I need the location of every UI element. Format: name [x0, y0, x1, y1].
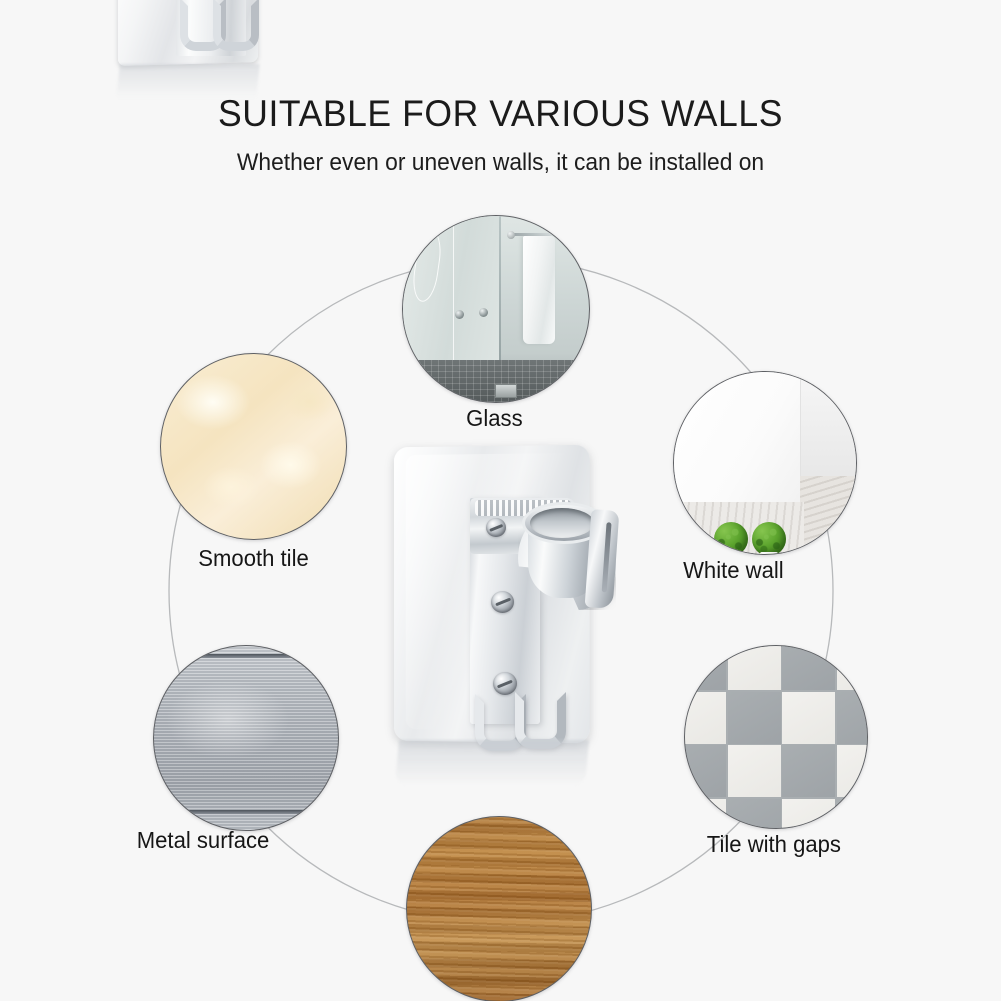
- glass-swatch: [402, 215, 590, 403]
- tile-cell: [684, 799, 726, 830]
- tile-cell: [837, 745, 869, 797]
- white-wall-swatch: [673, 371, 857, 555]
- infographic-page: SUITABLE FOR VARIOUS WALLS Whether even …: [0, 0, 1001, 1001]
- tile-cell: [782, 799, 835, 830]
- checkerboard-pattern: [684, 645, 868, 829]
- tile-cell: [782, 745, 835, 797]
- page-title: SUITABLE FOR VARIOUS WALLS: [20, 93, 981, 135]
- tile-cell: [837, 645, 869, 690]
- screw-icon: [486, 518, 506, 537]
- tile-cell: [728, 745, 781, 797]
- surface-label-metal-surface: Metal surface: [137, 827, 270, 854]
- wood-floor-right: [800, 476, 856, 554]
- metal-sheen: [154, 646, 338, 830]
- tile-cell: [684, 745, 726, 797]
- smooth-tile-swatch: [160, 353, 347, 540]
- doorway-opening: [800, 372, 857, 490]
- tile-cell: [728, 692, 781, 744]
- plant-pot: [722, 552, 740, 555]
- hook-icon: [213, 0, 259, 51]
- white-wall-surface: [674, 372, 800, 514]
- screw-icon: [491, 591, 514, 613]
- shower-knob-icon: [479, 308, 488, 317]
- drain-icon: [495, 384, 517, 398]
- screw-icon: [493, 672, 517, 695]
- tile-cell: [684, 692, 726, 744]
- metal-swatch: [153, 645, 339, 831]
- cup-opening: [530, 508, 594, 538]
- tile-cell: [728, 645, 781, 690]
- tile-cell: [782, 645, 835, 690]
- surface-label-glass: Glass: [466, 405, 522, 432]
- wood-swatch: [406, 816, 592, 1001]
- plant-pot: [760, 552, 778, 555]
- tile-cell: [782, 692, 835, 744]
- surface-label-smooth-tile: Smooth tile: [198, 545, 308, 572]
- plant-foliage: [714, 522, 748, 555]
- wall-seam: [453, 216, 454, 368]
- plant-foliage: [752, 522, 786, 555]
- surface-label-tile-with-gaps: Tile with gaps: [707, 831, 841, 858]
- towel-icon: [523, 236, 555, 344]
- tile-cell: [837, 799, 869, 830]
- product-reflection: [395, 740, 589, 786]
- shower-knob-icon: [455, 310, 464, 319]
- surface-label-white-wall: White wall: [683, 557, 784, 584]
- cup-front-tab: [585, 509, 620, 609]
- tile-gaps-swatch: [684, 645, 868, 829]
- tile-cell: [684, 645, 726, 690]
- tile-cell: [837, 692, 869, 744]
- page-subtitle: Whether even or uneven walls, it can be …: [25, 149, 976, 177]
- top-product-photo: [118, 0, 258, 98]
- tile-cell: [728, 799, 781, 830]
- product-photo: [383, 440, 627, 770]
